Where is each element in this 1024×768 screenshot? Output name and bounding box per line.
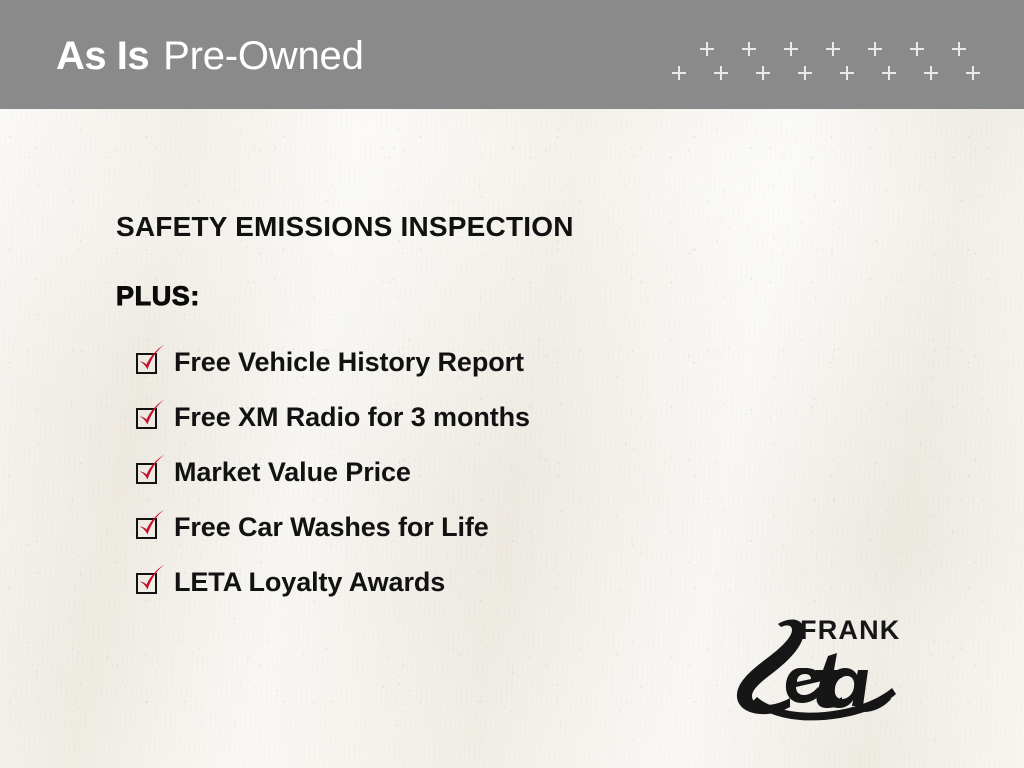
plus-mark-icon: [756, 66, 770, 80]
page-title-light: Pre-Owned: [163, 34, 364, 78]
plus-mark-icon: [840, 66, 854, 80]
plus-mark-icon: [924, 66, 938, 80]
plus-decoration: [672, 38, 1012, 90]
list-item-label: Market Value Price: [174, 459, 411, 486]
plus-subheading: PLUS:: [116, 282, 836, 312]
list-item-label: Free Vehicle History Report: [174, 349, 524, 376]
page-title: As IsPre-Owned: [56, 36, 364, 76]
plus-decoration-row-top: [672, 42, 1024, 62]
checkbox-checked-icon: [136, 350, 164, 376]
plus-mark-icon: [714, 66, 728, 80]
list-item: Market Value Price: [136, 445, 836, 500]
checkbox-checked-icon: [136, 570, 164, 596]
plus-mark-icon: [966, 66, 980, 80]
list-item: Free XM Radio for 3 months: [136, 390, 836, 445]
list-item: LETA Loyalty Awards: [136, 555, 836, 610]
plus-mark-icon: [882, 66, 896, 80]
plus-mark-icon: [672, 66, 686, 80]
checkbox-checked-icon: [136, 405, 164, 431]
frank-leta-logo: FRANK: [700, 606, 930, 724]
checkbox-checked-icon: [136, 460, 164, 486]
main-heading: SAFETY EMISSIONS INSPECTION: [116, 212, 836, 243]
plus-mark-icon: [798, 66, 812, 80]
plus-mark-icon: [826, 42, 840, 56]
plus-decoration-row-bottom: [672, 66, 1012, 86]
benefits-checklist: Free Vehicle History Report Free XM Radi…: [116, 335, 836, 610]
header-band: As IsPre-Owned: [0, 0, 1024, 109]
plus-mark-icon: [868, 42, 882, 56]
page-title-strong: As Is: [56, 34, 149, 78]
plus-mark-icon: [952, 42, 966, 56]
list-item-label: Free XM Radio for 3 months: [174, 404, 530, 431]
slide-canvas: As IsPre-Owned: [0, 0, 1024, 768]
plus-mark-icon: [742, 42, 756, 56]
content-area: SAFETY EMISSIONS INSPECTION PLUS: Free V…: [116, 212, 836, 610]
plus-mark-icon: [910, 42, 924, 56]
plus-mark-icon: [784, 42, 798, 56]
logo-frank-text: FRANK: [800, 615, 901, 645]
list-item-label: Free Car Washes for Life: [174, 514, 489, 541]
list-item: Free Car Washes for Life: [136, 500, 836, 555]
list-item: Free Vehicle History Report: [136, 335, 836, 390]
list-item-label: LETA Loyalty Awards: [174, 569, 445, 596]
checkbox-checked-icon: [136, 515, 164, 541]
plus-mark-icon: [700, 42, 714, 56]
